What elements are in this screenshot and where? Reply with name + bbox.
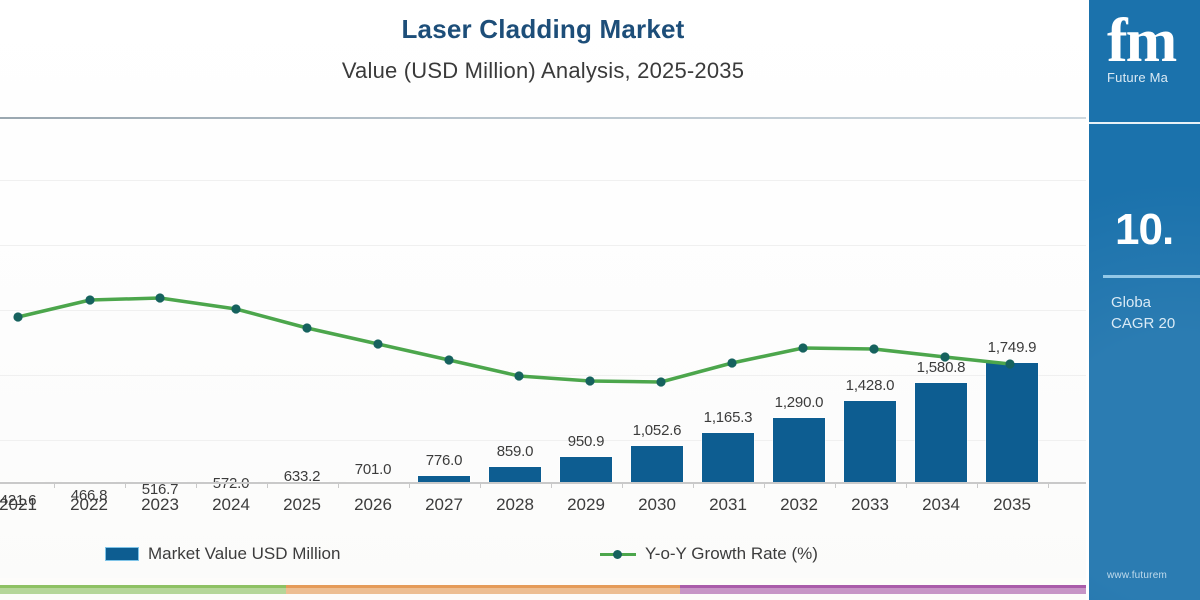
x-axis-tick (835, 482, 836, 488)
cagr-value: 10. (1115, 205, 1173, 255)
x-axis-label: 2030 (622, 495, 692, 515)
x-axis-label: 2034 (906, 495, 976, 515)
x-axis-tick (125, 482, 126, 488)
bar-value-labels: 421.6466.8516.7572.0633.2701.0776.0859.0… (0, 120, 1086, 482)
x-axis-tick (551, 482, 552, 488)
cagr-caption-line-1: Globa (1111, 292, 1200, 313)
x-axis-label: 2023 (125, 495, 195, 515)
x-axis-label: 2024 (196, 495, 266, 515)
legend-bar-label: Market Value USD Million (148, 544, 340, 564)
logo-mark-icon: fm (1107, 14, 1200, 68)
chart-legend: Market Value USD Million Y-o-Y Growth Ra… (0, 540, 1086, 574)
x-axis-tick (693, 482, 694, 488)
x-axis-tick (267, 482, 268, 488)
chart-panel: Laser Cladding Market Value (USD Million… (0, 0, 1086, 600)
x-axis-tick (409, 482, 410, 488)
bar-value-label: 1,428.0 (825, 377, 915, 394)
x-axis-label: 2025 (267, 495, 337, 515)
chart-infographic: Laser Cladding Market Value (USD Million… (0, 0, 1200, 600)
x-axis-label: 2022 (54, 495, 124, 515)
x-axis-label: 2032 (764, 495, 834, 515)
x-axis-tick (196, 482, 197, 488)
x-axis-labels: 2021202220232024202520262027202820292030… (0, 495, 1086, 525)
bar-value-label: 1,165.3 (683, 409, 773, 426)
strip-segment-bottom (286, 588, 680, 594)
x-axis-tick (977, 482, 978, 488)
cagr-underline (1103, 275, 1200, 278)
x-axis-tick (338, 482, 339, 488)
x-axis-tick (1048, 482, 1049, 488)
bottom-color-strip (0, 578, 1086, 600)
logo-wordmark: Future Ma (1107, 70, 1200, 85)
bar-value-label: 1,749.9 (967, 339, 1057, 356)
x-axis-tick (906, 482, 907, 488)
x-axis-label: 2021 (0, 495, 53, 515)
bar-value-label: 1,580.8 (896, 359, 986, 376)
brand-url: www.futurem (1107, 570, 1167, 581)
strip-segment-bottom (0, 588, 286, 594)
chart-subtitle: Value (USD Million) Analysis, 2025-2035 (0, 58, 1086, 84)
legend-item-market-value[interactable]: Market Value USD Million (105, 544, 340, 564)
x-axis-label: 2035 (977, 495, 1047, 515)
legend-line-label: Y-o-Y Growth Rate (%) (645, 544, 818, 564)
x-axis-tick (764, 482, 765, 488)
plot-area: 2021: 10.4%2022: 10.7%2023: 10.7%2024: 1… (0, 120, 1086, 482)
legend-line-marker (600, 547, 636, 561)
chart-header: Laser Cladding Market Value (USD Million… (0, 0, 1086, 118)
x-axis-label: 2026 (338, 495, 408, 515)
strip-segment (286, 585, 680, 594)
legend-line-dot (613, 550, 622, 559)
x-axis-label: 2028 (480, 495, 550, 515)
bar-value-label: 1,290.0 (754, 394, 844, 411)
legend-bar-swatch (105, 547, 139, 561)
x-axis-label: 2029 (551, 495, 621, 515)
x-axis-tick (480, 482, 481, 488)
strip-segment (0, 585, 286, 594)
brand-divider (1089, 122, 1200, 124)
brand-panel: fm Future Ma 10. Globa CAGR 20 www.futur… (1086, 0, 1200, 600)
x-axis-label: 2027 (409, 495, 479, 515)
x-axis-tick (622, 482, 623, 488)
brand-logo: fm Future Ma (1107, 14, 1200, 85)
x-axis-line (0, 482, 1086, 484)
x-axis-label: 2033 (835, 495, 905, 515)
x-axis-label: 2031 (693, 495, 763, 515)
legend-item-growth-rate[interactable]: Y-o-Y Growth Rate (%) (600, 544, 818, 564)
strip-segment-bottom (680, 588, 1086, 594)
cagr-caption: Globa CAGR 20 (1111, 292, 1200, 334)
strip-segment (680, 585, 1086, 594)
cagr-caption-line-2: CAGR 20 (1111, 313, 1200, 334)
header-divider (0, 117, 1086, 119)
x-axis-tick (54, 482, 55, 488)
chart-title: Laser Cladding Market (0, 14, 1086, 45)
